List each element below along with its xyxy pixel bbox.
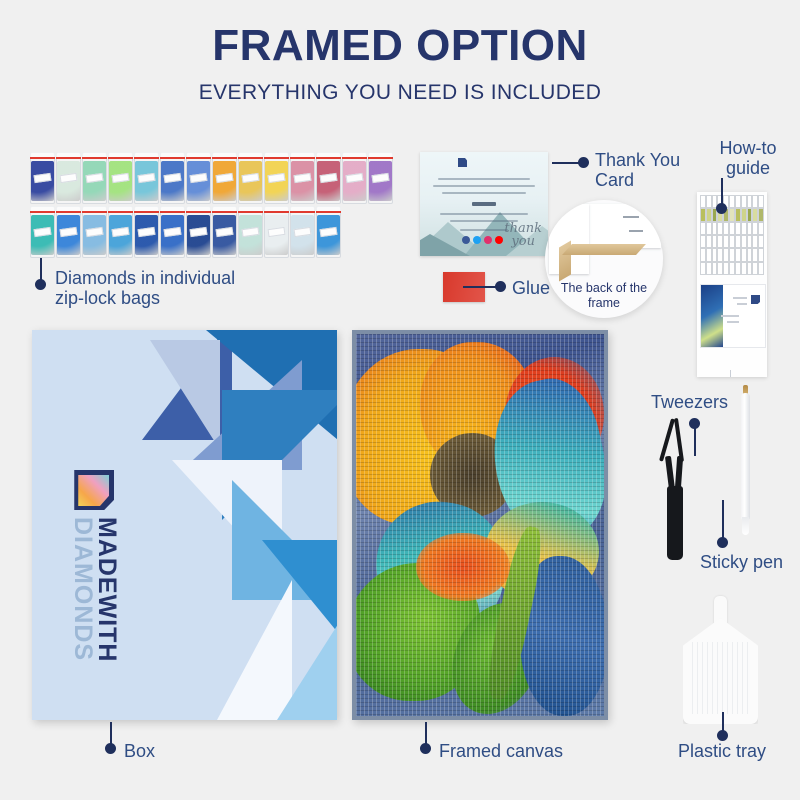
bag-zip-seal (82, 211, 107, 213)
bag-zip-seal (316, 157, 341, 159)
chart-cell (758, 208, 764, 221)
card-code (472, 202, 496, 206)
bag-zip-seal (238, 211, 263, 213)
leader-glue (463, 286, 498, 288)
label-how-to-guide: How-to guide (700, 138, 796, 178)
tray-grooves (692, 642, 749, 714)
guide-cover-image (701, 285, 723, 347)
leader-guide (721, 178, 723, 206)
diamond-bag (342, 152, 367, 204)
framed-canvas (352, 330, 608, 720)
canvas-mosaic (356, 334, 604, 716)
card-social-icons (462, 236, 503, 244)
diamond-bag (30, 152, 55, 204)
diamond-bag (134, 206, 159, 258)
bag-zip-seal (30, 211, 55, 213)
bag-zip-seal (264, 211, 289, 213)
bag-zip-seal (134, 211, 159, 213)
leader-thankyou (552, 162, 580, 164)
bag-zip-seal (238, 157, 263, 159)
brand-mark-icon (458, 158, 467, 167)
chart-cell (758, 262, 764, 275)
box-brand-logo: MADEWITH DIAMONDS (71, 470, 119, 662)
label-plastic-tray: Plastic tray (678, 741, 766, 761)
label-thankyou-card: Thank You Card (595, 150, 680, 190)
marker-tray (717, 730, 728, 741)
bag-zip-seal (108, 157, 133, 159)
card-logo (458, 158, 469, 167)
marker-box (105, 743, 116, 754)
chart-cell (758, 222, 764, 235)
bag-zip-seal (290, 211, 315, 213)
frame-back-bubble: The back of the frame (545, 200, 663, 318)
diamond-bag (212, 206, 237, 258)
label-box: Box (124, 741, 155, 761)
youtube-icon (495, 236, 503, 244)
marker-pen (717, 537, 728, 548)
bag-zip-seal (342, 157, 367, 159)
bag-zip-seal (316, 211, 341, 213)
diamond-bag (56, 152, 81, 204)
guide-string (730, 370, 731, 377)
diamond-bag (238, 206, 263, 258)
diamond-bag (160, 152, 185, 204)
page-title: FRAMED OPTION (0, 24, 800, 68)
diamond-bag (134, 152, 159, 204)
bag-zip-seal (30, 157, 55, 159)
label-framed-canvas: Framed canvas (439, 741, 563, 761)
diamond-bag (238, 152, 263, 204)
label-frame-back: The back of the frame (545, 281, 663, 310)
bag-zip-seal (368, 157, 393, 159)
mosaic-drill-grid (356, 334, 604, 716)
diamond-bag (160, 206, 185, 258)
bag-zip-seal (186, 211, 211, 213)
leader-pen (722, 500, 724, 542)
twitter-icon (473, 236, 481, 244)
bag-zip-seal (290, 157, 315, 159)
bag-zip-seal (264, 157, 289, 159)
thank-you-card: thank you (420, 152, 548, 256)
diamond-bag (186, 152, 211, 204)
chart-cell (758, 235, 764, 248)
diamond-bag (30, 206, 55, 258)
guide-cover (700, 284, 766, 348)
diamond-bag (108, 206, 133, 258)
marker-guide (716, 203, 727, 214)
chart-cell (758, 195, 764, 208)
diamond-bag (186, 206, 211, 258)
bag-zip-seal (56, 157, 81, 159)
bag-zip-seal (160, 211, 185, 213)
plastic-tray (683, 596, 758, 724)
bag-zip-seal (56, 211, 81, 213)
diamond-bag (264, 152, 289, 204)
how-to-guide (697, 192, 767, 377)
diamond-bag (108, 152, 133, 204)
bag-zip-seal (186, 157, 211, 159)
infographic-canvas: FRAMED OPTION EVERYTHING YOU NEED IS INC… (0, 0, 800, 800)
diamond-bag (290, 206, 315, 258)
pen-end (742, 517, 749, 535)
bag-zip-seal (108, 211, 133, 213)
guide-brand-mark-icon (751, 295, 760, 304)
facebook-icon (462, 236, 470, 244)
bag-zip-seal (82, 157, 107, 159)
marker-glue (495, 281, 506, 292)
diamond-bag (82, 206, 107, 258)
diamond-bags-row-bottom (30, 206, 341, 258)
label-sticky-pen: Sticky pen (700, 552, 783, 572)
marker-tweezers (689, 418, 700, 429)
guide-color-chart (700, 195, 764, 275)
bag-zip-seal (160, 157, 185, 159)
bag-zip-seal (212, 157, 237, 159)
card-thankyou-script: thank you (504, 223, 542, 248)
diamond-bag (316, 206, 341, 258)
marker-diamonds (35, 279, 46, 290)
diamond-bag (212, 152, 237, 204)
marker-thankyou (578, 157, 589, 168)
brand-diamond-icon (74, 470, 114, 510)
pen-body (741, 393, 750, 521)
instagram-icon (484, 236, 492, 244)
diamond-bag (264, 206, 289, 258)
marker-canvas (420, 743, 431, 754)
tweezers (655, 418, 695, 558)
sticky-pen (740, 385, 751, 535)
diamond-bag (368, 152, 393, 204)
diamond-bag (316, 152, 341, 204)
diamond-bag (56, 206, 81, 258)
label-tweezers: Tweezers (651, 392, 728, 412)
bag-zip-seal (212, 211, 237, 213)
bag-zip-seal (134, 157, 159, 159)
chart-cell (758, 248, 764, 261)
diamond-bag (290, 152, 315, 204)
diamond-bag (82, 152, 107, 204)
page-subtitle: EVERYTHING YOU NEED IS INCLUDED (0, 82, 800, 103)
diamond-bags-row-top (30, 152, 393, 204)
brand-wordmark: MADEWITH DIAMONDS (71, 517, 119, 662)
label-diamonds: Diamonds in individual zip-lock bags (55, 268, 235, 308)
